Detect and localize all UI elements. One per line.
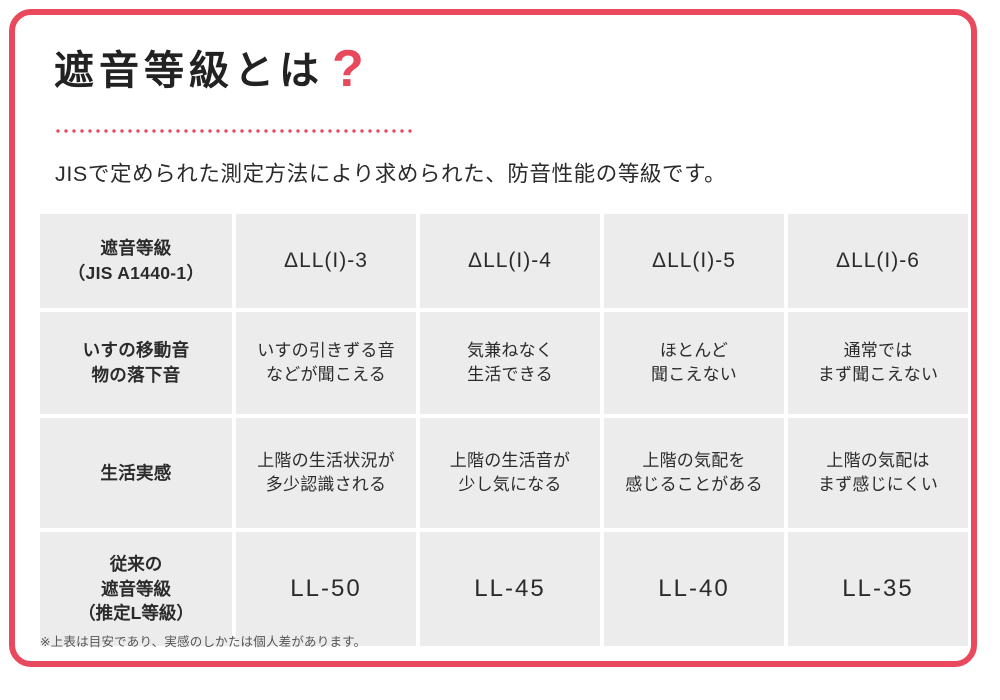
legacy-value-3: LL-40	[604, 532, 784, 646]
row-header-chair: いすの移動音 物の落下音	[40, 312, 232, 414]
life-desc-3-line2: 感じることがある	[608, 473, 780, 497]
chair-desc-3: ほとんど 聞こえない	[604, 312, 784, 414]
life-desc-1-line2: 多少認識される	[240, 473, 412, 497]
row-header-life-line1: 生活実感	[44, 461, 228, 486]
row-header-grade-line2: （JIS A1440-1）	[44, 261, 228, 286]
footnote: ※上表は目安であり、実感のしかたは個人差があります。	[40, 631, 366, 650]
card-inner: 遮音等級とは ? JISで定められた測定方法により求められた、防音性能の等級です…	[15, 15, 971, 661]
row-header-chair-line1: いすの移動音	[44, 338, 228, 363]
chair-desc-2: 気兼ねなく 生活できる	[420, 312, 600, 414]
row-header-chair-line2: 物の落下音	[44, 363, 228, 388]
row-header-legacy-line3: （推定L等級）	[44, 601, 228, 626]
page-title: 遮音等級とは ?	[54, 43, 364, 91]
chair-desc-3-line2: 聞こえない	[608, 363, 780, 387]
chair-desc-1-line1: いすの引きずる音	[240, 339, 412, 363]
sound-insulation-table: 遮音等級 （JIS A1440-1） ΔLL(I)-3 ΔLL(I)-4 ΔLL…	[36, 210, 972, 650]
chair-desc-3-line1: ほとんど	[608, 339, 780, 363]
life-desc-1-line1: 上階の生活状況が	[240, 449, 412, 473]
row-header-legacy-line1: 従来の	[44, 552, 228, 577]
table-row: 遮音等級 （JIS A1440-1） ΔLL(I)-3 ΔLL(I)-4 ΔLL…	[40, 214, 968, 308]
life-desc-2-line1: 上階の生活音が	[424, 449, 596, 473]
table-row: 生活実感 上階の生活状況が 多少認識される 上階の生活音が 少し気になる 上階の…	[40, 418, 968, 528]
life-desc-4: 上階の気配は まず感じにくい	[788, 418, 968, 528]
page-title-text: 遮音等級とは	[54, 51, 324, 91]
legacy-value-4: LL-35	[788, 532, 968, 646]
life-desc-3-line1: 上階の気配を	[608, 449, 780, 473]
life-desc-3: 上階の気配を 感じることがある	[604, 418, 784, 528]
life-desc-2-line2: 少し気になる	[424, 473, 596, 497]
life-desc-2: 上階の生活音が 少し気になる	[420, 418, 600, 528]
life-desc-1: 上階の生活状況が 多少認識される	[236, 418, 416, 528]
chair-desc-4: 通常では まず聞こえない	[788, 312, 968, 414]
lead-paragraph: JISで定められた測定方法により求められた、防音性能の等級です。	[55, 157, 726, 188]
table-row: 従来の 遮音等級 （推定L等級） LL-50 LL-45 LL-40 LL-35	[40, 532, 968, 646]
chair-desc-4-line2: まず聞こえない	[792, 363, 964, 387]
row-header-legacy: 従来の 遮音等級 （推定L等級）	[40, 532, 232, 646]
row-header-legacy-line2: 遮音等級	[44, 577, 228, 602]
life-desc-4-line1: 上階の気配は	[792, 449, 964, 473]
life-desc-4-line2: まず感じにくい	[792, 473, 964, 497]
grade-value-2: ΔLL(I)-4	[420, 214, 600, 308]
chair-desc-4-line1: 通常では	[792, 339, 964, 363]
row-header-grade-line1: 遮音等級	[44, 236, 228, 261]
chair-desc-2-line1: 気兼ねなく	[424, 339, 596, 363]
dotted-divider	[54, 129, 416, 133]
grade-value-1: ΔLL(I)-3	[236, 214, 416, 308]
question-mark-icon: ?	[332, 46, 364, 94]
legacy-value-1: LL-50	[236, 532, 416, 646]
card-frame: 遮音等級とは ? JISで定められた測定方法により求められた、防音性能の等級です…	[9, 9, 977, 667]
grade-value-4: ΔLL(I)-6	[788, 214, 968, 308]
chair-desc-2-line2: 生活できる	[424, 363, 596, 387]
row-header-grade: 遮音等級 （JIS A1440-1）	[40, 214, 232, 308]
grade-value-3: ΔLL(I)-5	[604, 214, 784, 308]
chair-desc-1-line2: などが聞こえる	[240, 363, 412, 387]
chair-desc-1: いすの引きずる音 などが聞こえる	[236, 312, 416, 414]
row-header-life: 生活実感	[40, 418, 232, 528]
legacy-value-2: LL-45	[420, 532, 600, 646]
table-row: いすの移動音 物の落下音 いすの引きずる音 などが聞こえる 気兼ねなく 生活でき…	[40, 312, 968, 414]
